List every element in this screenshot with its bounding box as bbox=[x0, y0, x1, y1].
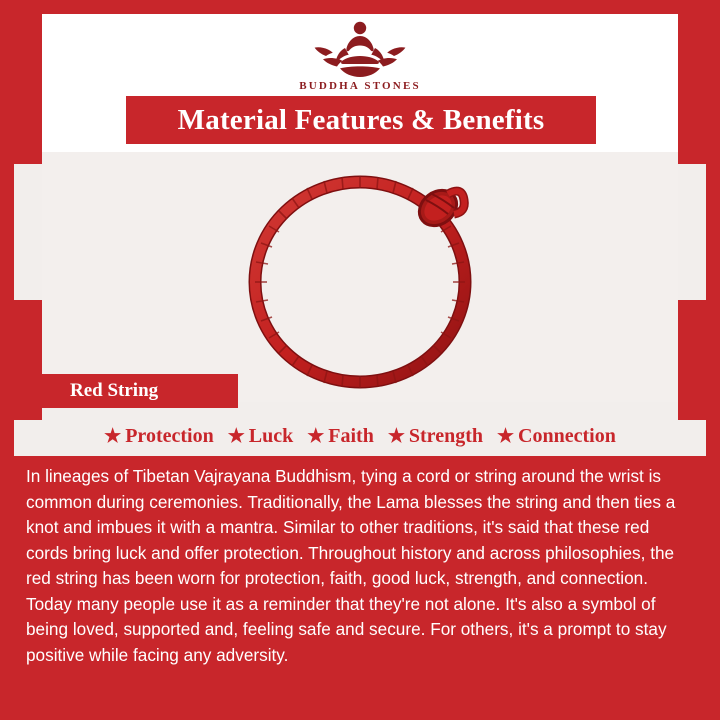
frame-accent-mid-right bbox=[678, 300, 706, 420]
frame-bar-left bbox=[0, 0, 14, 720]
benefit-label: Protection bbox=[125, 425, 214, 448]
benefit-label: Faith bbox=[328, 425, 374, 448]
benefit-label: Luck bbox=[249, 425, 293, 448]
product-label: Red String bbox=[70, 380, 158, 402]
benefit-label: Strength bbox=[409, 425, 483, 448]
title-banner: Material Features & Benefits bbox=[126, 96, 596, 144]
brand-logo: BUDDHA STONES bbox=[0, 16, 720, 92]
benefits-list: ★ Protection ★ Luck ★ Faith ★ Strength ★… bbox=[42, 418, 678, 454]
frame-accent-mid-left bbox=[14, 300, 42, 420]
page-title: Material Features & Benefits bbox=[178, 104, 545, 137]
benefit-label: Connection bbox=[518, 425, 616, 448]
star-icon: ★ bbox=[388, 425, 405, 448]
red-string-braided-bracelet-image bbox=[210, 142, 510, 392]
description-text: In lineages of Tibetan Vajrayana Buddhis… bbox=[26, 464, 696, 668]
infographic-page: BUDDHA STONES Material Features & Benefi… bbox=[0, 0, 720, 720]
frame-bar-top bbox=[0, 0, 720, 14]
benefit-item: ★ Connection bbox=[497, 425, 616, 448]
brand-name: BUDDHA STONES bbox=[0, 80, 720, 92]
benefit-item: ★ Protection bbox=[104, 425, 214, 448]
product-image-area bbox=[42, 152, 678, 402]
star-icon: ★ bbox=[104, 425, 121, 448]
benefit-item: ★ Faith bbox=[307, 425, 374, 448]
star-icon: ★ bbox=[497, 425, 514, 448]
benefit-item: ★ Luck bbox=[228, 425, 294, 448]
frame-bar-bottom bbox=[0, 706, 720, 720]
product-label-tab: Red String bbox=[42, 374, 238, 408]
lotus-meditation-figure-icon bbox=[312, 16, 408, 78]
frame-bar-right bbox=[706, 0, 720, 720]
description-block: In lineages of Tibetan Vajrayana Buddhis… bbox=[14, 456, 706, 706]
star-icon: ★ bbox=[307, 425, 324, 448]
benefit-item: ★ Strength bbox=[388, 425, 483, 448]
star-icon: ★ bbox=[228, 425, 245, 448]
